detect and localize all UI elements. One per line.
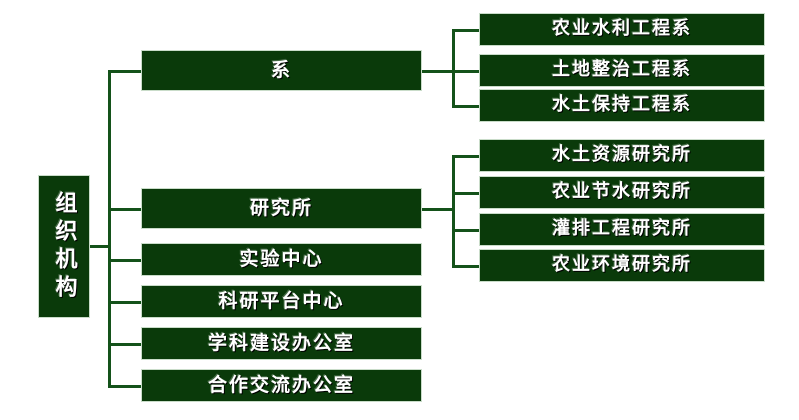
connector-departments-trunk (452, 29, 455, 105)
org-chart: 组织机构 系 研究所 实验中心 科研平台中心 学科建设办公室 合作交流办公室 农… (0, 0, 799, 420)
node-root[interactable]: 组织机构 (38, 175, 90, 318)
connector-trunk-to-xi (108, 70, 143, 73)
node-department-soil-water-conservation[interactable]: 水土保持工程系 (479, 89, 765, 122)
node-department-land-consolidation[interactable]: 土地整治工程系 (479, 54, 765, 87)
node-institutes-group[interactable]: 研究所 (141, 188, 422, 229)
node-cooperation-exchange-office[interactable]: 合作交流办公室 (141, 369, 422, 402)
node-institute-soil-water-resources[interactable]: 水土资源研究所 (479, 139, 765, 172)
connector-trunk-to-xueke (108, 343, 143, 346)
node-experiment-center[interactable]: 实验中心 (141, 243, 422, 276)
node-institute-agricultural-water-saving[interactable]: 农业节水研究所 (479, 176, 765, 209)
connector-trunk-to-shiyan (108, 259, 143, 262)
connector-yanjiusuo-stub (421, 208, 455, 211)
connector-department-3 (452, 105, 480, 108)
node-department-agricultural-water-conservancy[interactable]: 农业水利工程系 (479, 13, 765, 46)
connector-department-1 (452, 29, 480, 32)
connector-department-2 (452, 70, 480, 73)
connector-xi-stub (421, 70, 455, 73)
node-institute-irrigation-drainage-engineering[interactable]: 灌排工程研究所 (479, 213, 765, 246)
node-discipline-construction-office[interactable]: 学科建设办公室 (141, 327, 422, 360)
node-institute-agricultural-environment[interactable]: 农业环境研究所 (479, 249, 765, 282)
connector-institute-1 (452, 155, 480, 158)
connector-trunk-to-keyan (108, 301, 143, 304)
connector-trunk-to-yanjiusuo (108, 208, 143, 211)
connector-institute-2 (452, 192, 480, 195)
connector-institutes-trunk (452, 155, 455, 267)
connector-trunk-to-hezuo (108, 385, 143, 388)
connector-institute-3 (452, 229, 480, 232)
node-research-platform-center[interactable]: 科研平台中心 (141, 285, 422, 318)
connector-main-trunk (108, 70, 111, 386)
connector-institute-4 (452, 265, 480, 268)
node-departments-group[interactable]: 系 (141, 50, 422, 91)
